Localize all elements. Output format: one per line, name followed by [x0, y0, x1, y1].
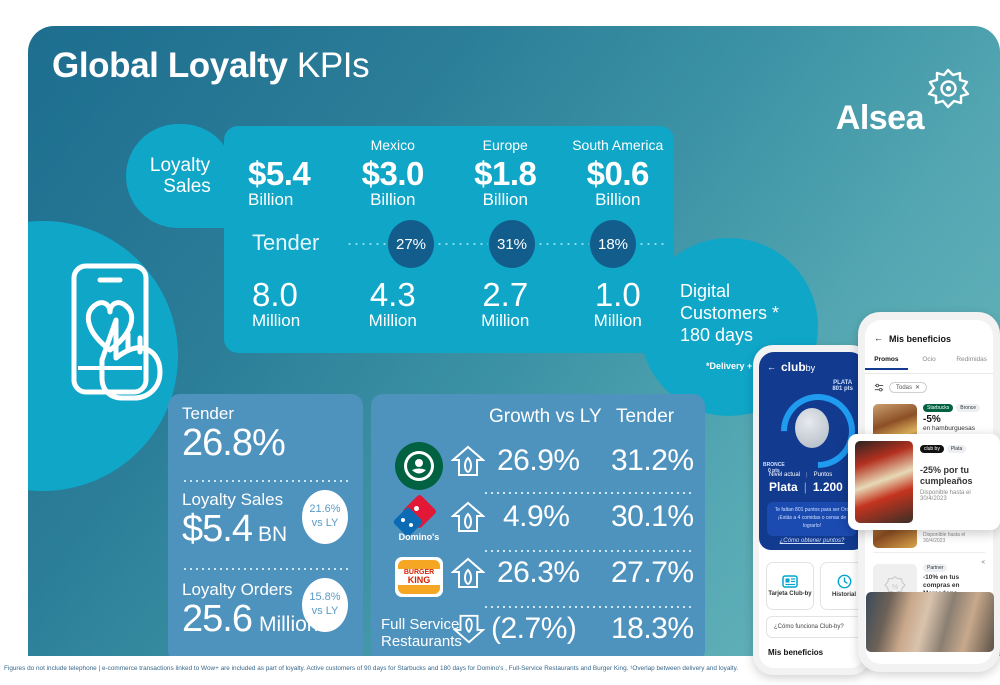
summary-panel: Tender 26.8% Loyalty Sales $5.4 BN 21.6%…	[168, 394, 363, 656]
summary-value-loyalty-orders: 25.6	[182, 600, 252, 638]
footnote: Figures do not include telephone | e-com…	[4, 665, 996, 673]
burger-king-logo: BURGER KING	[395, 557, 443, 597]
promo-badge-tier: Bronce	[956, 404, 980, 412]
mobile-loyalty-icon	[50, 254, 182, 429]
customers-unit-mexico: Million	[369, 312, 417, 330]
badge-loyalty-orders-vs-ly: 15.8% vs LY	[302, 578, 348, 632]
dot-connector-2	[436, 243, 488, 245]
promo-badge-brand: club by	[920, 445, 944, 453]
badge-pct-loyalty-orders: 15.8%	[309, 591, 340, 605]
promo-image-bruschetta	[855, 441, 913, 523]
full-service-restaurants-label: Full Service Restaurants	[381, 616, 462, 651]
region-label-europe: Europe	[483, 136, 528, 154]
points-note: Te faltan 801 puntos para ser Oro ¡Estás…	[767, 502, 857, 536]
club-label: club	[781, 360, 806, 374]
customers-col-europe: 2.7 Million	[449, 272, 562, 330]
fsr-line1: Full Service	[381, 616, 462, 633]
promo-subtitle: en hamburguesas	[923, 425, 985, 433]
logo-text: Alsea	[836, 101, 924, 135]
starbucks-logo	[395, 442, 443, 490]
digital-customers-label: Digital Customers * 180 days	[680, 281, 779, 347]
digital-line1: Digital	[680, 281, 779, 303]
infographic-root: Global Loyalty KPIs Alsea Loyalty Sales	[0, 0, 1000, 685]
page-title-bold: Global Loyalty	[52, 46, 288, 85]
sales-value-europe: $1.8	[474, 157, 536, 191]
region-label-south-america: South America	[572, 136, 663, 154]
stat-value-puntos: 1.200	[813, 480, 843, 494]
table-row: Full Service Restaurants (2.7%) 18.3%	[371, 610, 705, 656]
sales-value-total: $5.4	[248, 157, 310, 191]
badge-sub-loyalty-sales: vs LY	[312, 517, 339, 531]
club-by-wordmark: clubby	[781, 360, 815, 374]
badge-sub-loyalty-orders: vs LY	[312, 605, 339, 619]
promo-badge-brand: Starbucks	[923, 404, 953, 412]
clock-icon	[837, 574, 852, 589]
tile-label-historial: Historial	[832, 592, 856, 598]
row-divider-3	[483, 606, 691, 608]
tender-pct-mexico: 27%	[388, 220, 434, 268]
stat-label-nivel: Nivel actual	[769, 472, 800, 478]
customers-unit-total: Million	[252, 312, 300, 330]
sales-unit-mexico: Billion	[370, 191, 415, 209]
summary-block-loyalty-orders: Loyalty Orders 25.6 Million	[182, 580, 318, 638]
customers-value-europe: 2.7	[482, 278, 528, 312]
loyalty-bubble-line2: Sales	[163, 176, 211, 197]
highlighted-promo-card[interactable]: club by Plata -25% por tu cumpleaños Dis…	[848, 434, 1000, 530]
dominos-logo: Domino's	[396, 498, 442, 544]
dot-connector-3	[537, 243, 589, 245]
mis-beneficios-heading: Mis beneficios	[768, 648, 823, 657]
promo-divider-2	[873, 552, 985, 553]
promo-headline: -5%	[923, 414, 985, 425]
customers-value-south-america: 1.0	[595, 278, 641, 312]
how-to-earn-points-link[interactable]: ¿Cómo obtener puntos?	[759, 538, 865, 544]
region-label-mexico: Mexico	[371, 136, 415, 154]
summary-value-tender: 26.8%	[182, 424, 285, 462]
kpi-panel: $5.4 Billion Mexico $3.0 Billion Europe …	[224, 126, 674, 353]
sales-value-mexico: $3.0	[362, 157, 424, 191]
sunburst-icon	[926, 68, 970, 117]
tender-pct-south-america: 18%	[590, 220, 636, 268]
trend-up-icon	[451, 500, 485, 539]
growth-table-panel: Growth vs LY Tender	[371, 394, 705, 656]
benefit-tabs: Promos Ocio Redimidas	[865, 356, 993, 370]
promo-badge-tier: Plata	[947, 445, 966, 453]
row-divider-1	[483, 492, 691, 494]
phone-two-title: Mis beneficios	[889, 334, 951, 344]
tab-ocio[interactable]: Ocio	[908, 356, 951, 370]
quick-action-tiles: Tarjeta Club-by Historial	[766, 562, 865, 610]
customers-value-mexico: 4.3	[370, 278, 416, 312]
customers-unit-europe: Million	[481, 312, 529, 330]
table-row: Domino's 4.9% 30.1%	[371, 498, 705, 548]
sales-value-south-america: $0.6	[587, 157, 649, 191]
tier-plata-label: PLATA 801 pts	[832, 380, 853, 392]
growth-value-fsr: (2.7%)	[491, 614, 576, 644]
promo-headline: -25% por tu cumpleaños	[920, 465, 993, 487]
filter-icon	[874, 383, 884, 393]
tender-row: Tender 27% 31% 18%	[224, 220, 674, 268]
sales-unit-south-america: Billion	[595, 191, 640, 209]
stat-labels: Nivel actual | Puntos	[769, 472, 832, 478]
tender-value-starbucks: 31.2%	[611, 446, 694, 476]
customers-unit-south-america: Million	[594, 312, 642, 330]
kpi-customers-row: 8.0 Million 4.3 Million 2.7 Million 1.0 …	[224, 272, 674, 330]
dominos-wordmark: Domino's	[396, 532, 442, 542]
summary-block-loyalty-sales: Loyalty Sales $5.4 BN	[182, 490, 287, 548]
summary-divider-2	[182, 568, 348, 570]
by-label: by	[806, 363, 816, 373]
digital-line3: 180 days	[680, 325, 779, 347]
customers-col-mexico: 4.3 Million	[337, 272, 450, 330]
promo-date: Disponible hasta el 30/4/2023	[920, 490, 993, 502]
sales-unit-europe: Billion	[483, 191, 528, 209]
trend-down-icon	[453, 612, 485, 651]
row-divider-2	[483, 550, 691, 552]
tab-promos[interactable]: Promos	[865, 356, 908, 370]
badge-loyalty-sales-vs-ly: 21.6% vs LY	[302, 490, 348, 544]
sales-unit-total: Billion	[248, 191, 293, 209]
tender-value-fsr: 18.3%	[611, 614, 694, 644]
stat-label-puntos: Puntos	[814, 472, 833, 478]
medal-icon	[795, 408, 829, 448]
summary-suffix-loyalty-sales: BN	[258, 523, 287, 547]
page-title: Global Loyalty KPIs	[52, 46, 369, 86]
filter-bar: Todas ✕	[874, 382, 927, 393]
svg-text:%: %	[892, 582, 899, 591]
tender-value-burger-king: 27.7%	[611, 558, 694, 588]
tile-label-tarjeta: Tarjeta Club-by	[768, 591, 811, 597]
stat-values: Plata | 1.200	[769, 480, 843, 494]
loyalty-sales-bubble: Loyalty Sales	[126, 124, 234, 228]
filter-chip-todas[interactable]: Todas ✕	[889, 382, 927, 393]
lifestyle-photo	[866, 592, 994, 652]
growth-value-dominos: 4.9%	[503, 502, 569, 532]
badge-pct-loyalty-sales: 21.6%	[309, 503, 340, 517]
customers-col-total: 8.0 Million	[224, 272, 337, 330]
growth-value-burger-king: 26.3%	[497, 558, 580, 588]
trend-up-icon	[451, 444, 485, 483]
digital-line2: Customers *	[680, 303, 779, 325]
table-row: 26.9% 31.2%	[371, 442, 705, 492]
page-title-light: KPIs	[297, 46, 369, 85]
tile-tarjeta-club-by[interactable]: Tarjeta Club-by	[766, 562, 814, 610]
dot-connector-4	[638, 243, 666, 245]
tier-plata-points: 801 pts	[832, 386, 853, 392]
tender-pct-europe: 31%	[489, 220, 535, 268]
summary-label-loyalty-orders: Loyalty Orders	[182, 580, 318, 600]
promo-badge-partner: Partner	[923, 564, 947, 572]
share-icon[interactable]: <	[981, 560, 985, 566]
stat-value-nivel: Plata	[769, 480, 798, 494]
tender-value-dominos: 30.1%	[611, 502, 694, 532]
loyalty-bubble-line1: Loyalty	[150, 155, 210, 176]
close-icon[interactable]: ✕	[915, 384, 920, 391]
fsr-line2: Restaurants	[381, 633, 462, 650]
growth-column-header: Growth vs LY	[489, 406, 602, 428]
summary-block-tender: Tender 26.8%	[182, 404, 285, 462]
growth-value-starbucks: 26.9%	[497, 446, 580, 476]
card-icon	[782, 575, 798, 588]
customers-col-south-america: 1.0 Million	[562, 272, 675, 330]
table-row: BURGER KING 26.3% 27.7%	[371, 554, 705, 604]
summary-value-loyalty-sales: $5.4	[182, 510, 252, 548]
back-arrow-icon[interactable]: ←	[767, 362, 776, 372]
back-arrow-icon[interactable]: ←	[874, 333, 883, 343]
tabs-underline	[865, 373, 993, 374]
customers-value-total: 8.0	[252, 278, 298, 312]
promo-date: Disponible hasta el 30/4/2023	[923, 532, 985, 544]
how-club-by-works-row[interactable]: ¿Cómo funciona Club-by?	[766, 616, 864, 638]
summary-label-tender: Tender	[182, 404, 285, 424]
filter-chip-label: Todas	[896, 385, 912, 391]
trend-up-icon	[451, 556, 485, 595]
tender-column-header: Tender	[616, 406, 674, 428]
summary-divider-1	[182, 480, 348, 482]
summary-label-loyalty-sales: Loyalty Sales	[182, 490, 287, 510]
tender-label: Tender	[252, 230, 319, 256]
dot-connector-1	[346, 243, 388, 245]
tab-redimidas[interactable]: Redimidas	[950, 356, 993, 370]
alsea-logo: Alsea	[836, 68, 970, 135]
